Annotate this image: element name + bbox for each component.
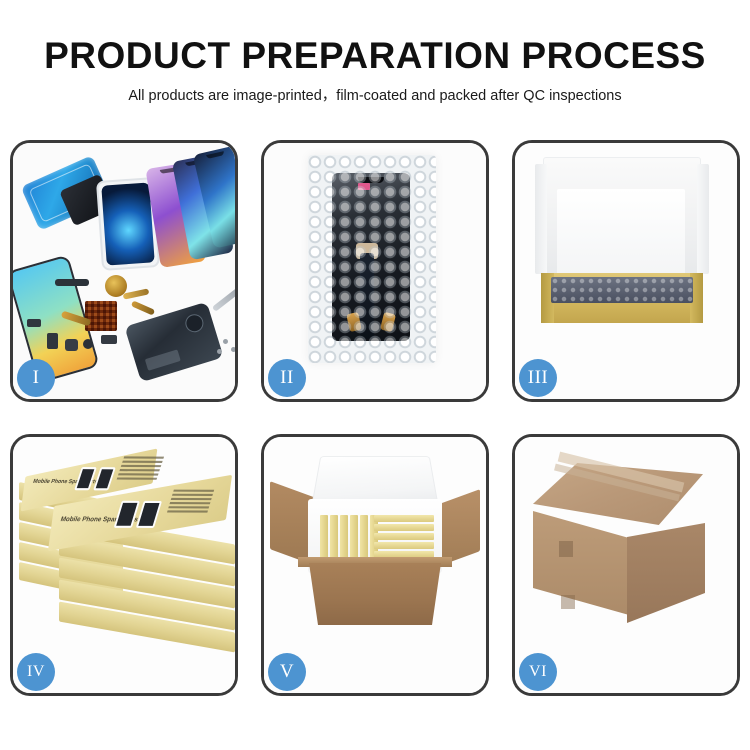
small-part-1	[47, 333, 58, 349]
box-artwork-screen-d	[136, 501, 162, 528]
box-spec-lines-front	[166, 490, 214, 515]
white-foam-sheet	[557, 189, 685, 283]
packed-boxes-horizontal	[374, 515, 434, 561]
step-6-image	[515, 437, 737, 693]
process-step-panel-3[interactable]: III	[512, 140, 740, 402]
process-step-panel-1[interactable]: I	[10, 140, 238, 402]
process-step-panel-5[interactable]: V	[261, 434, 489, 696]
product-preparation-process-page: PRODUCT PREPARATION PROCESS All products…	[0, 0, 750, 750]
pink-qc-label	[358, 183, 370, 190]
process-step-panel-6[interactable]: VI	[512, 434, 740, 696]
step-badge-4: IV	[17, 653, 55, 691]
earpiece-bar-part	[55, 279, 89, 286]
carton-flap-seam-upper	[559, 541, 573, 557]
header: PRODUCT PREPARATION PROCESS All products…	[0, 0, 750, 106]
step-1-image	[13, 143, 235, 399]
page-title: PRODUCT PREPARATION PROCESS	[0, 34, 750, 78]
small-part-3	[83, 339, 93, 349]
step-3-image	[515, 143, 737, 399]
bubble-wrap-bag	[308, 155, 436, 363]
screw-part-1	[223, 339, 228, 344]
step-badge-3: III	[519, 359, 557, 397]
process-step-panel-4[interactable]: Mobile Phone Spare Parts	[10, 434, 238, 696]
small-part-4	[101, 335, 117, 344]
process-step-panel-2[interactable]: II	[261, 140, 489, 402]
step-5-image	[264, 437, 486, 693]
step-badge-5: V	[268, 653, 306, 691]
screw-part-3	[217, 349, 222, 354]
step-2-image	[264, 143, 486, 399]
carton-front-wall	[300, 563, 450, 625]
kraft-mailer-tray	[541, 273, 703, 323]
box-artwork-screen-b	[93, 467, 116, 490]
connector-grid-part	[85, 301, 117, 331]
small-part-5	[27, 319, 41, 327]
gold-connector-right	[380, 312, 396, 332]
screw-part-2	[231, 347, 235, 352]
process-step-grid: I	[10, 140, 740, 696]
box-spec-lines-back	[116, 456, 164, 481]
lcd-screen-assembly	[332, 173, 410, 341]
antistatic-bubble-padding	[551, 277, 693, 303]
step-badge-1: I	[17, 359, 55, 397]
carton-flap-seam-lower	[561, 595, 575, 609]
small-part-2	[65, 339, 78, 351]
page-subtitle: All products are image-printed，film-coat…	[0, 86, 750, 106]
flex-cable-strip	[360, 253, 374, 339]
retail-box-stack: Mobile Phone Spare Parts	[19, 455, 235, 641]
step-badge-2: II	[268, 359, 306, 397]
step-badge-6: VI	[519, 653, 557, 691]
step-4-image: Mobile Phone Spare Parts	[13, 437, 235, 693]
